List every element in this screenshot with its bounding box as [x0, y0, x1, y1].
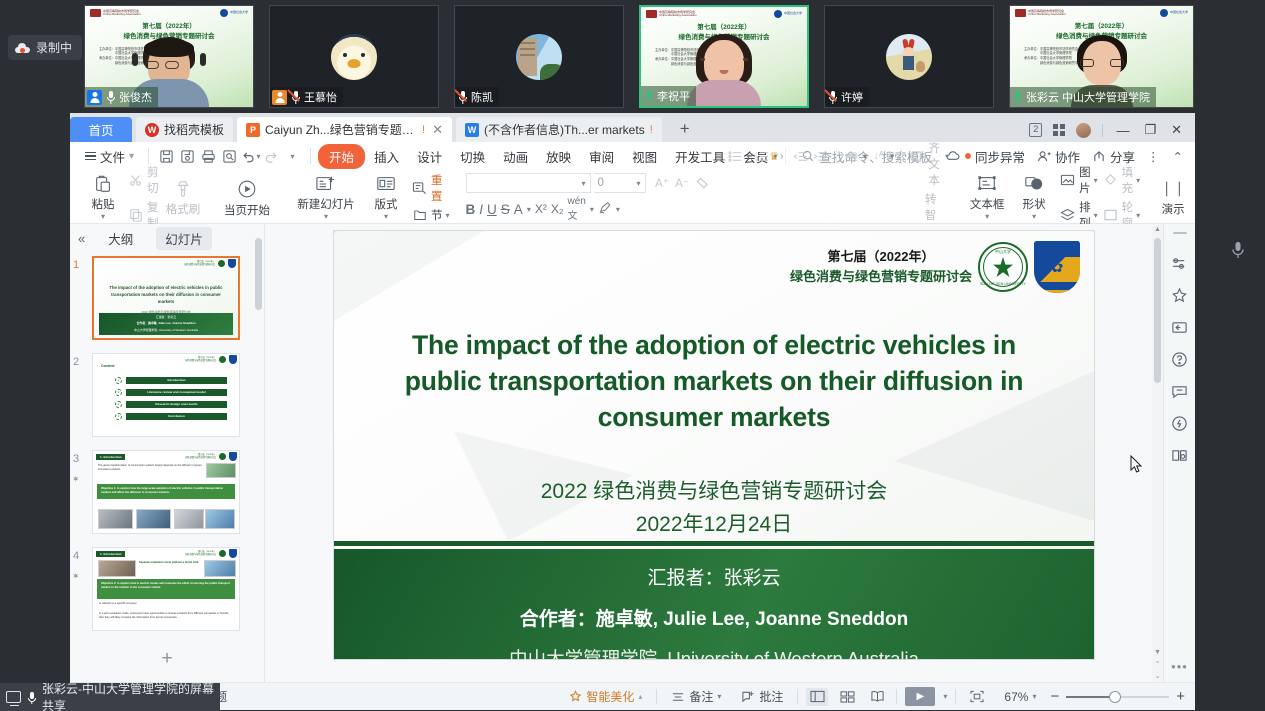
wps-icon: W [465, 123, 479, 137]
slide-header-text: 第七届（2022年） 绿色消费与绿色营销专题研讨会 [790, 247, 972, 287]
print-preview-icon[interactable] [219, 146, 240, 166]
participant-nametag: 张彩云 中山大学管理学院 [1010, 87, 1156, 107]
tab-presentation-label: Caiyun Zh...绿色营销专题研讨会 [265, 121, 417, 138]
cut-label: 剪切 [147, 164, 159, 196]
strikethrough-button[interactable]: S [501, 202, 510, 217]
system-mic-icon[interactable] [1231, 241, 1245, 259]
sysu-seal-icon [217, 259, 226, 268]
zoom-slider[interactable]: − + [1050, 688, 1185, 705]
menu-item-view[interactable]: 视图 [623, 144, 666, 169]
brain-icon[interactable] [1171, 414, 1189, 432]
tab-writer-doc[interactable]: W (不含作者信息)Th...er markets ! [456, 117, 662, 142]
scroll-down-button[interactable]: ▼ [1152, 647, 1163, 658]
participant-tile-wangmuyi[interactable]: 王慕怡 [269, 5, 439, 108]
tab-presentation-active[interactable]: P Caiyun Zh...绿色营销专题研讨会 ! ✕ [237, 117, 452, 142]
zoom-in-button[interactable]: + [1176, 688, 1185, 705]
font-name-input[interactable]: ▾ [466, 173, 591, 193]
close-icon[interactable]: ✕ [432, 122, 443, 138]
textbox-button[interactable]: 文本框▾ [965, 172, 1009, 223]
participant-nametag: 王慕怡 [270, 87, 343, 107]
textbox-label: 文本框 [970, 196, 1005, 212]
section-label: 节 [431, 207, 443, 223]
participant-tile-zhangcaiyun[interactable]: 中国高等院校市场学研究会China Marketing Association … [1009, 5, 1194, 108]
screen-share-label: 张彩云-中山大学管理学院的屏幕共享 [42, 680, 214, 711]
font-size-input[interactable]: 0▾ [594, 173, 646, 193]
redo-icon [261, 146, 282, 166]
beautify-label: 智能美化 [586, 688, 634, 705]
new-slide-button[interactable]: 新建幻灯片▾ [291, 172, 361, 223]
participant-nametag: 许婷 [825, 87, 869, 107]
participant-name: 陈凯 [471, 89, 493, 105]
pinyin-guide-button[interactable]: wén文 [568, 196, 586, 222]
slide-divider-rule [334, 541, 1094, 546]
screen-recording-icon[interactable] [1171, 318, 1189, 336]
zoom-level-label: 67% [1004, 690, 1028, 704]
sync-status[interactable]: 同步异常 [946, 147, 1025, 166]
mic-on-icon [26, 691, 37, 704]
thumbnail-preview: 第七届（2022年）绿色消费与绿色营销专题研讨会 The impact of t… [94, 258, 238, 338]
thumbnail-slide-3[interactable]: 3 ✶ 1. Introduction 第七届（2022年）绿色消费与绿色营销专… [92, 450, 264, 534]
recording-label: 录制中 [36, 39, 72, 56]
window-controls: 2 — ❐ ✕ [1029, 122, 1195, 142]
slide-header-line1: 第七届（2022年） [828, 249, 935, 264]
divider [310, 148, 311, 164]
thumbnail-number: 3 [73, 453, 79, 465]
tab-home[interactable]: 首页 [70, 117, 132, 142]
thumbnail-pane-header: « 大纲 幻灯片 [70, 224, 264, 252]
uwa-crest-icon [229, 549, 237, 558]
slide-header-line2: 绿色消费与绿色营销专题研讨会 [790, 269, 972, 284]
layout-label: 版式 [375, 196, 398, 212]
wps-presentation-window: 首页 W 找稻壳模板 P Caiyun Zh...绿色营销专题研讨会 ! ✕ W… [70, 113, 1195, 710]
slide-meta-line2: 2022年12月24日 [636, 513, 792, 536]
participant-tile-zhangjunjie[interactable]: 中国高等院校市场学研究会China Marketing Association … [84, 5, 254, 108]
reading-view-icon[interactable] [866, 688, 888, 706]
fill-label: 填充 [1122, 164, 1134, 196]
zoom-level[interactable]: 67%▾ [998, 690, 1042, 704]
reset-icon [411, 179, 428, 196]
zoom-slider-track[interactable] [1066, 696, 1169, 698]
undo-icon[interactable]: ▾ [240, 146, 261, 166]
beautify-icon[interactable] [1171, 286, 1189, 304]
thumbnail-number: 2 [73, 356, 79, 368]
scroll-up-button[interactable]: ▲ [1152, 224, 1163, 235]
participant-nametag: 张俊杰 [85, 87, 158, 107]
menu-bar: 文件 ▾ ▾ ▾ 开始 插入 设计 切换 动画 放映 审阅 视图 开发工具 会员… [70, 142, 1195, 170]
notes-label: 备注 [689, 688, 713, 705]
ribbon-toolbar: 粘贴▾ 剪切 复制 格式刷 [70, 170, 1195, 224]
scrollbar-thumb[interactable] [255, 238, 262, 310]
increase-font-size-icon[interactable]: A⁺ [654, 175, 671, 192]
collapse-ribbon-icon[interactable]: ⌃ [1173, 149, 1183, 164]
collaborate-button[interactable]: 协作 [1037, 147, 1080, 166]
participant-name: 许婷 [841, 89, 863, 105]
ppt-icon: P [246, 123, 260, 137]
uwa-crest-icon [229, 452, 237, 461]
thumbnail-highlight: Objective 2: to explore how in electric … [97, 579, 235, 599]
thumbnail-sub: Separate evaluation mode (without a bran… [139, 561, 203, 565]
ribbon-group-clipboard: 粘贴▾ 剪切 复制 格式刷 [76, 172, 210, 223]
slide-logos: 中国高等院校市场学研究会China Marketing Association … [1010, 6, 1193, 17]
sync-status-label: 同步异常 [975, 147, 1025, 166]
shape-button[interactable]: 形状▾ [1013, 172, 1055, 223]
thumbnail-logos: 第七届（2022年）绿色消费与绿色营销专题研讨会 [185, 452, 237, 461]
desktop-background-left [0, 113, 70, 711]
increase-indent-icon[interactable] [812, 148, 829, 165]
paste-button[interactable]: 粘贴▾ [83, 172, 123, 223]
tab-slides[interactable]: 幻灯片 [156, 227, 212, 250]
play-slideshow-button[interactable]: ▶ [905, 687, 935, 706]
thumbnail-logos: 第七届（2022年）绿色消费与绿色营销专题研讨会 [185, 549, 237, 558]
participant-nametag: 陈凯 [455, 87, 499, 107]
docer-icon: W [145, 123, 159, 137]
new-tab-button[interactable]: + [672, 119, 698, 142]
mic-muted-icon [290, 90, 301, 104]
participant-name: 张俊杰 [119, 89, 152, 105]
menu-item-start[interactable]: 开始 [318, 144, 365, 169]
person-icon [272, 90, 287, 105]
slide-meta[interactable]: 2022 绿色消费与绿色营销专题研讨会 2022年12月24日 [334, 476, 1094, 541]
normal-view-icon[interactable] [806, 688, 828, 706]
thumbnail-preview: 第七届（2022年）绿色消费与绿色营销专题研讨会 Content: 1Intro… [93, 354, 239, 436]
file-menu[interactable]: 文件 ▾ [78, 147, 141, 166]
screen-share-icon [6, 691, 21, 703]
comments-label: 批注 [759, 688, 783, 705]
clear-formatting-icon[interactable] [694, 175, 711, 192]
thumbnail-section-tag: 1. Introduction [96, 454, 125, 460]
layout-button[interactable]: 版式▾ [365, 172, 407, 223]
collapse-pane-button[interactable]: « [78, 231, 85, 246]
restore-button[interactable]: ❐ [1142, 122, 1158, 138]
thumbnail-slide-1[interactable]: 1 第七届（2022年）绿色消费与绿色营销专题研讨会 The impact of… [92, 256, 264, 340]
participant-tile-chenkai[interactable]: 陈凯 [454, 5, 624, 108]
thumbnail-frame[interactable]: 第七届（2022年）绿色消费与绿色营销专题研讨会 Content: 1Intro… [92, 353, 240, 437]
slide-logos: 中国高等院校市场学研究会China Marketing Association … [641, 7, 807, 18]
text-color-button[interactable]: A [514, 202, 523, 217]
font-controls-row: ▾ 0▾ A⁺ A⁻ [466, 173, 711, 193]
help-icon[interactable] [1171, 350, 1189, 368]
collaborate-label: 协作 [1055, 147, 1080, 166]
sync-alert-dot [965, 153, 971, 159]
divider [148, 148, 149, 164]
menu-item-insert[interactable]: 插入 [365, 144, 408, 169]
save-as-icon[interactable] [177, 146, 198, 166]
divider [955, 689, 956, 704]
picture-icon [1059, 172, 1076, 189]
start-from-current-label: 当页开始 [224, 202, 270, 218]
warning-icon[interactable]: ! [422, 124, 425, 136]
workspace: « 大纲 幻灯片 1 第七届（2022年）绿色消费与绿色营销专题研讨会 [70, 224, 1195, 682]
tab-writer-label: (不含作者信息)Th...er markets [484, 121, 645, 138]
bullet-list-icon[interactable] [727, 148, 744, 165]
add-slide-button[interactable]: + [70, 644, 264, 670]
section-button[interactable]: 节▾ [411, 207, 450, 224]
minimize-button[interactable]: — [1114, 123, 1131, 138]
reading-icon[interactable] [1171, 446, 1189, 464]
grid-view-icon[interactable] [1053, 124, 1065, 136]
thumbnail-number: 4 [73, 550, 79, 562]
menu-item-design[interactable]: 设计 [408, 144, 451, 169]
feedback-icon[interactable] [1171, 382, 1189, 400]
fill-button[interactable]: 填充▾ [1102, 164, 1141, 196]
save-icon[interactable] [156, 146, 177, 166]
paste-label: 粘贴 [92, 196, 115, 212]
reset-label: 重置 [431, 172, 450, 204]
menu-item-devtools[interactable]: 开发工具 [666, 144, 734, 169]
subscript-button[interactable]: X₂ [551, 202, 564, 216]
participant-nametag: 李祝平 [641, 86, 696, 106]
comments-button[interactable]: 批注 [735, 688, 789, 705]
ribbon-group-present: 演示 [1149, 172, 1197, 223]
slide-title[interactable]: The impact of the adoption of electric v… [372, 327, 1056, 435]
uwa-crest-icon [229, 355, 237, 364]
thumbnail-preview: 1. Introduction 第七届（2022年）绿色消费与绿色营销专题研讨会… [93, 548, 239, 630]
person-icon [87, 90, 102, 105]
arrange-icon [1059, 207, 1076, 224]
slide-author-band[interactable]: 汇报者：张彩云 合作者：施卓敏, Julie Lee, Joanne Snedd… [334, 549, 1094, 659]
start-from-current-button[interactable]: 当页开始 [219, 172, 275, 223]
slide-header: 第七届（2022年） 绿色消费与绿色营销专题研讨会 中山大学SUN YAT-SE… [790, 241, 1080, 293]
reset-button[interactable]: 重置 [411, 172, 450, 204]
previous-slide-button[interactable]: ⌃ [1152, 659, 1163, 670]
fill-icon [1102, 172, 1119, 189]
close-button[interactable]: ✕ [1169, 122, 1184, 138]
coauthors-line: 合作者：施卓敏, Julie Lee, Joanne Sneddon [334, 604, 1094, 631]
thumbnail-number: 1 [73, 259, 79, 271]
divider [1102, 124, 1103, 137]
decrease-font-size-icon[interactable]: A⁻ [674, 175, 691, 192]
zoom-out-button[interactable]: − [1050, 688, 1059, 705]
play-options-chevron-icon[interactable]: ▾ [943, 692, 947, 701]
bold-button[interactable]: B [466, 202, 476, 217]
rail-grip-handle[interactable] [1173, 232, 1187, 234]
properties-icon[interactable] [1171, 254, 1189, 272]
slide-canvas[interactable]: 第七届（2022年） 绿色消费与绿色营销专题研讨会 中山大学SUN YAT-SE… [334, 231, 1094, 659]
ribbon-group-font: ▾ 0▾ A⁺ A⁻ B I U S A▾ X² X₂ wén文▾ [459, 172, 718, 223]
picture-button[interactable]: 图片▾ [1059, 164, 1098, 196]
mic-muted-icon [457, 90, 468, 104]
mic-on-icon [643, 89, 654, 103]
recording-indicator: 录制中 [8, 35, 82, 60]
slide-thumbnail-pane: « 大纲 幻灯片 1 第七届（2022年）绿色消费与绿色营销专题研讨会 [70, 224, 265, 682]
slide-sorter-icon[interactable] [836, 688, 858, 706]
slide-meta-line1: 2022 绿色消费与绿色营销专题研讨会 [541, 480, 888, 503]
screen-share-indicator[interactable]: 张彩云-中山大学管理学院的屏幕共享 [0, 683, 220, 711]
recording-cloud-icon [15, 43, 30, 53]
superscript-button[interactable]: X² [535, 202, 547, 216]
document-tab-bar: 首页 W 找稻壳模板 P Caiyun Zh...绿色营销专题研讨会 ! ✕ W… [70, 113, 1195, 142]
participant-video-lizhuping [688, 34, 760, 106]
menu-item-review[interactable]: 审阅 [580, 144, 623, 169]
menu-item-transition[interactable]: 切换 [451, 144, 494, 169]
decrease-indent-icon[interactable] [792, 148, 809, 165]
cut-button[interactable]: 剪切 [127, 164, 159, 196]
next-slide-button[interactable]: ⌄ [1152, 671, 1163, 682]
thumbnail-band: 汇报者：张彩云 合作者：施卓敏, Julie Lee, Joanne Snedd… [99, 313, 233, 335]
participant-name: 王慕怡 [304, 89, 337, 105]
section-icon [411, 207, 428, 224]
menu-item-animation[interactable]: 动画 [494, 144, 537, 169]
thumbnail-note: Is relevant to a specific company [99, 602, 137, 606]
mic-on-icon [1012, 90, 1023, 104]
tab-home-label: 首页 [88, 120, 113, 139]
duck-avatar [331, 34, 377, 80]
thumbnail-logos: 第七届（2022年）绿色消费与绿色营销专题研讨会 [185, 355, 237, 364]
hamburger-icon [85, 152, 96, 161]
italic-button[interactable]: I [479, 202, 483, 217]
text-format-row: B I U S A▾ X² X₂ wén文▾ ▾ [466, 196, 711, 222]
format-painter-label: 格式刷 [166, 201, 201, 217]
svg-text:3: 3 [755, 158, 757, 162]
uwa-crest-icon: ✿ [1034, 241, 1080, 293]
thumbnail-footnote: In a joint evaluation mode, consumers ha… [99, 612, 234, 620]
picture-label: 图片 [1079, 164, 1091, 196]
thumbnail-slide-4[interactable]: 4 ✶ 1. Introduction 第七届（2022年）绿色消费与绿色营销专… [92, 547, 264, 631]
sysu-seal-icon [218, 549, 227, 558]
desktop-background-right [1195, 113, 1265, 711]
numbered-list-icon[interactable]: 123 [754, 148, 771, 165]
notes-button[interactable]: 备注▾ [665, 688, 727, 705]
tab-outline[interactable]: 大纲 [99, 227, 142, 250]
thumbnail-logos: 第七届（2022年）绿色消费与绿色营销专题研讨会 [184, 259, 236, 268]
mic-muted-icon [827, 90, 838, 104]
menu-item-slideshow[interactable]: 放映 [537, 144, 580, 169]
scissors-icon [127, 172, 144, 189]
participant-name: 李祝平 [657, 88, 690, 104]
file-menu-label: 文件 [100, 147, 125, 166]
affiliations-line: 中山大学管理学院, University of Western Australi… [334, 645, 1094, 659]
more-options-icon[interactable]: ⋮ [1147, 149, 1161, 164]
participant-tile-xuting[interactable]: 许婷 [824, 5, 994, 108]
thumbnail-scrollbar[interactable] [253, 224, 264, 682]
slide-logos: 中国高等院校市场学研究会China Marketing Association … [85, 6, 253, 17]
scrollbar-thumb[interactable] [1154, 238, 1161, 383]
status-bar: 幻灯片 1/21 Office 主题 智能美化 ▴ 备注▾ 批注 ▶ [70, 682, 1195, 710]
thumbnail-slide-2[interactable]: 2 第七届（2022年）绿色消费与绿色营销专题研讨会 Content: 1Int… [92, 353, 264, 437]
highlight-button[interactable] [598, 201, 612, 217]
present-label: 演示 [1162, 201, 1185, 217]
thumbnail-list[interactable]: 1 第七届（2022年）绿色消费与绿色营销专题研讨会 The impact of… [70, 252, 264, 682]
thumbnail-title: The impact of the adoption of electric v… [103, 284, 229, 305]
sort-icon[interactable]: ↓ᴬ [870, 148, 887, 165]
ribbon-group-slideshow: 当页开始 [212, 172, 282, 223]
mouse-cursor [1130, 455, 1143, 474]
thumbnail-frame[interactable]: 第七届（2022年）绿色消费与绿色营销专题研讨会 The impact of t… [92, 256, 240, 340]
align-text-icon[interactable] [908, 148, 925, 165]
thumbnail-preview: 1. Introduction 第七届（2022年）绿色消费与绿色营销专题研讨会… [93, 451, 239, 533]
ribbon-group-insert: 文本框▾ 形状▾ 图片▾ 排列▾ [958, 172, 1147, 223]
presenter-line: 汇报者：张彩云 [334, 563, 1094, 590]
sysu-seal-icon [218, 355, 227, 364]
print-icon[interactable] [198, 146, 219, 166]
animation-star-icon: ✶ [72, 571, 80, 582]
thumbnail-frame[interactable]: 1. Introduction 第七届（2022年）绿色消费与绿色营销专题研讨会… [92, 547, 240, 631]
canvas-scrollbar[interactable]: ▲ ▼ ⌃ ⌄ [1152, 224, 1163, 682]
building-sky-avatar [516, 34, 562, 80]
ribbon-group-paragraph: ▾ 123▾ A̲B̲▾ ↓ᴬ▾ 对齐文本▾ [720, 172, 957, 223]
warning-icon[interactable]: ! [650, 124, 653, 136]
outline-icon [1102, 207, 1119, 224]
underline-button[interactable]: U [487, 202, 497, 217]
share-button[interactable]: 分享 [1092, 147, 1135, 166]
thumbnail-content-label: Content: [101, 364, 115, 368]
format-painter-button[interactable]: 格式刷 [163, 172, 203, 223]
divider [797, 689, 798, 704]
share-label: 分享 [1110, 147, 1135, 166]
divider [656, 689, 657, 704]
video-conference-strip: 录制中 中国高等院校市场学研究会China Marketing Associat… [0, 0, 1265, 113]
beautify-button[interactable]: 智能美化 ▴ [563, 688, 648, 705]
avatar[interactable] [1076, 123, 1091, 138]
zoom-slider-knob[interactable] [1109, 691, 1121, 703]
right-tool-rail: ••• [1163, 224, 1195, 682]
thumbnail-section-tag: 1. Introduction [96, 551, 125, 557]
slide-canvas-area[interactable]: 第七届（2022年） 绿色消费与绿色营销专题研讨会 中山大学SUN YAT-SE… [265, 224, 1163, 682]
participant-name: 张彩云 中山大学管理学院 [1026, 89, 1150, 105]
thumbnail-bullet: The green transformation of consumption … [98, 464, 205, 472]
sysu-seal-icon [218, 452, 227, 461]
present-button[interactable]: 演示 [1156, 172, 1190, 223]
ribbon-group-slides: 新建幻灯片▾ 版式▾ 重置 节▾ [284, 172, 457, 223]
shape-label: 形状 [1023, 196, 1046, 212]
participant-tile-lizhuping[interactable]: 中国高等院校市场学研究会China Marketing Association … [639, 5, 809, 108]
customize-quick-access-icon[interactable]: ▾ [282, 146, 303, 166]
girl-rabbit-avatar [886, 34, 932, 80]
animation-star-icon: ✶ [72, 474, 80, 485]
menu-bar-right: 同步异常 协作 分享 ⋮ ⌃ [946, 147, 1187, 166]
sun-yat-sen-university-seal-icon: 中山大学SUN YAT-SEN UNIVERSITY [978, 242, 1028, 292]
tab-docer-label: 找稻壳模板 [164, 121, 224, 138]
chevron-down-icon: ▾ [129, 151, 134, 162]
thumbnail-highlight: Objective 1: to explore how the large-sc… [97, 484, 235, 499]
thumbnail-frame[interactable]: 1. Introduction 第七届（2022年）绿色消费与绿色营销专题研讨会… [92, 450, 240, 534]
mic-on-icon [105, 90, 116, 104]
tab-docer-templates[interactable]: W 找稻壳模板 [136, 117, 233, 142]
text-direction-icon[interactable]: A̲B̲ [843, 148, 860, 165]
rail-more-button[interactable]: ••• [1171, 659, 1188, 674]
tab-count-badge[interactable]: 2 [1029, 123, 1042, 137]
copy-icon [127, 207, 144, 224]
new-slide-label: 新建幻灯片 [297, 196, 355, 212]
uwa-crest-icon [228, 259, 236, 268]
fit-to-window-icon[interactable] [964, 690, 990, 703]
divider [896, 689, 897, 704]
